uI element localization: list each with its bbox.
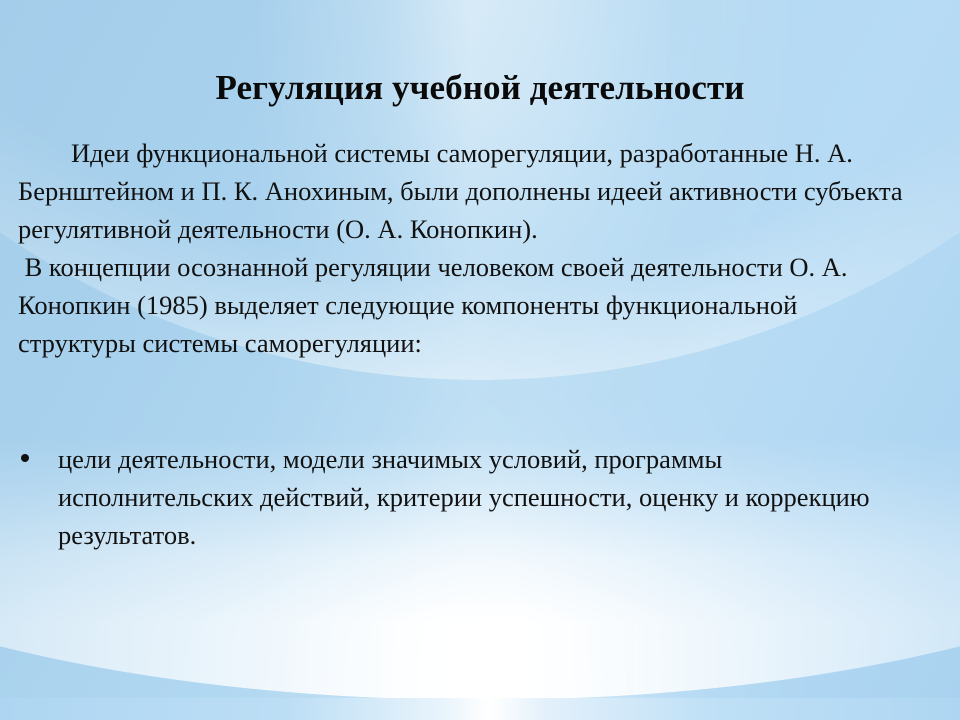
- slide-title: Регуляция учебной деятельности: [0, 67, 960, 109]
- bullet-dot-icon: [21, 454, 29, 462]
- slide-content: Регуляция учебной деятельности Идеи функ…: [0, 0, 960, 720]
- slide-body-text: Идеи функциональной системы саморегуляци…: [18, 134, 918, 362]
- components-bullet-list: цели деятельности, модели значимых услов…: [18, 440, 918, 554]
- body-paragraph-1: Идеи функциональной системы саморегуляци…: [18, 134, 918, 248]
- list-item: цели деятельности, модели значимых услов…: [18, 440, 918, 554]
- list-item-label: цели деятельности, модели значимых услов…: [58, 444, 870, 550]
- presentation-slide: Регуляция учебной деятельности Идеи функ…: [0, 0, 960, 720]
- body-paragraph-2: В концепции осознанной регуляции человек…: [18, 248, 918, 362]
